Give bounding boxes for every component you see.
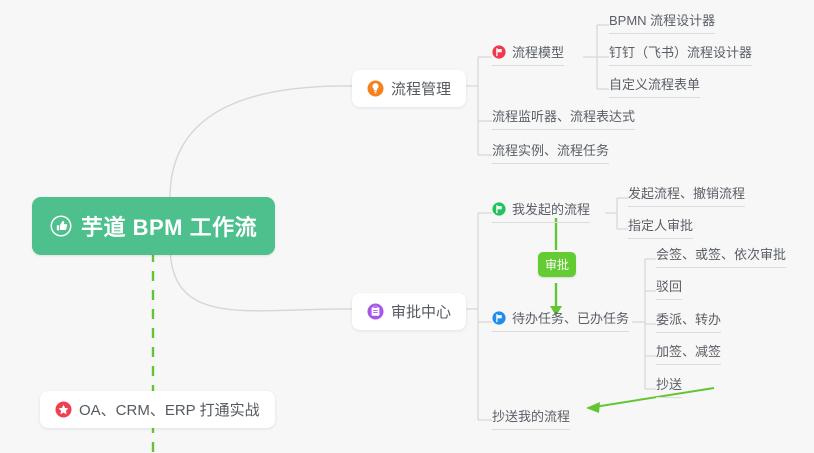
node-process-management-label: 流程管理 bbox=[391, 78, 451, 99]
node-dingtalk-feishu-designer-label: 钉钉（飞书）流程设计器 bbox=[609, 42, 752, 61]
star-icon bbox=[55, 401, 72, 418]
node-start-cancel-process[interactable]: 发起流程、撤销流程 bbox=[628, 183, 745, 207]
node-process-instance-task-label: 流程实例、流程任务 bbox=[492, 140, 609, 159]
node-countersign-orsign-sequential[interactable]: 会签、或签、依次审批 bbox=[656, 244, 786, 268]
node-oa-crm-erp-label: OA、CRM、ERP 打通实战 bbox=[79, 399, 260, 420]
thumbs-up-icon bbox=[50, 215, 72, 237]
node-reject-label: 驳回 bbox=[656, 276, 682, 295]
node-dingtalk-feishu-designer[interactable]: 钉钉（飞书）流程设计器 bbox=[609, 42, 752, 66]
node-custom-process-form-label: 自定义流程表单 bbox=[609, 74, 700, 93]
flag-blue-icon bbox=[492, 311, 506, 325]
node-approval-center[interactable]: 审批中心 bbox=[352, 293, 466, 330]
node-assignee-approval[interactable]: 指定人审批 bbox=[628, 215, 693, 239]
lightbulb-icon bbox=[367, 80, 384, 97]
node-custom-process-form[interactable]: 自定义流程表单 bbox=[609, 74, 700, 98]
node-cc-to-me-process-label: 抄送我的流程 bbox=[492, 406, 570, 425]
node-process-listener-expression-label: 流程监听器、流程表达式 bbox=[492, 106, 635, 125]
node-my-started-process-label: 我发起的流程 bbox=[512, 199, 590, 218]
node-cc[interactable]: 抄送 bbox=[656, 374, 682, 398]
flag-red-icon bbox=[492, 45, 506, 59]
node-approval-center-label: 审批中心 bbox=[391, 301, 451, 322]
node-assignee-approval-label: 指定人审批 bbox=[628, 215, 693, 234]
node-my-started-process[interactable]: 我发起的流程 bbox=[492, 199, 590, 223]
node-cc-label: 抄送 bbox=[656, 374, 682, 393]
node-todo-done-task-label: 待办任务、已办任务 bbox=[512, 308, 629, 327]
approval-chip[interactable]: 审批 bbox=[538, 252, 576, 277]
node-process-listener-expression[interactable]: 流程监听器、流程表达式 bbox=[492, 106, 635, 130]
node-add-remove-sign[interactable]: 加签、减签 bbox=[656, 341, 721, 365]
mindmap-canvas: 芋道 BPM 工作流 流程管理 流程模型 BPMN 流程设计器 钉钉（飞书）流 bbox=[0, 0, 814, 453]
node-bpmn-designer[interactable]: BPMN 流程设计器 bbox=[609, 10, 715, 34]
root-node[interactable]: 芋道 BPM 工作流 bbox=[32, 197, 275, 255]
arrow-cc-line bbox=[588, 388, 714, 408]
node-countersign-orsign-sequential-label: 会签、或签、依次审批 bbox=[656, 244, 786, 263]
node-process-model-label: 流程模型 bbox=[512, 42, 564, 61]
node-oa-crm-erp[interactable]: OA、CRM、ERP 打通实战 bbox=[40, 391, 275, 428]
node-process-instance-task[interactable]: 流程实例、流程任务 bbox=[492, 140, 609, 164]
node-add-remove-sign-label: 加签、减签 bbox=[656, 341, 721, 360]
node-todo-done-task[interactable]: 待办任务、已办任务 bbox=[492, 308, 629, 332]
node-process-model[interactable]: 流程模型 bbox=[492, 42, 564, 66]
node-start-cancel-process-label: 发起流程、撤销流程 bbox=[628, 183, 745, 202]
root-label: 芋道 BPM 工作流 bbox=[81, 210, 257, 242]
node-reject[interactable]: 驳回 bbox=[656, 276, 682, 300]
arrow-cc-head bbox=[586, 402, 600, 413]
clipboard-icon bbox=[367, 303, 384, 320]
node-process-management[interactable]: 流程管理 bbox=[352, 70, 466, 107]
flag-green-icon bbox=[492, 202, 506, 216]
node-bpmn-designer-label: BPMN 流程设计器 bbox=[609, 10, 715, 29]
link-root-to-process-management bbox=[170, 86, 352, 198]
node-delegate-transfer[interactable]: 委派、转办 bbox=[656, 309, 721, 333]
node-cc-to-me-process[interactable]: 抄送我的流程 bbox=[492, 406, 570, 430]
node-delegate-transfer-label: 委派、转办 bbox=[656, 309, 721, 328]
